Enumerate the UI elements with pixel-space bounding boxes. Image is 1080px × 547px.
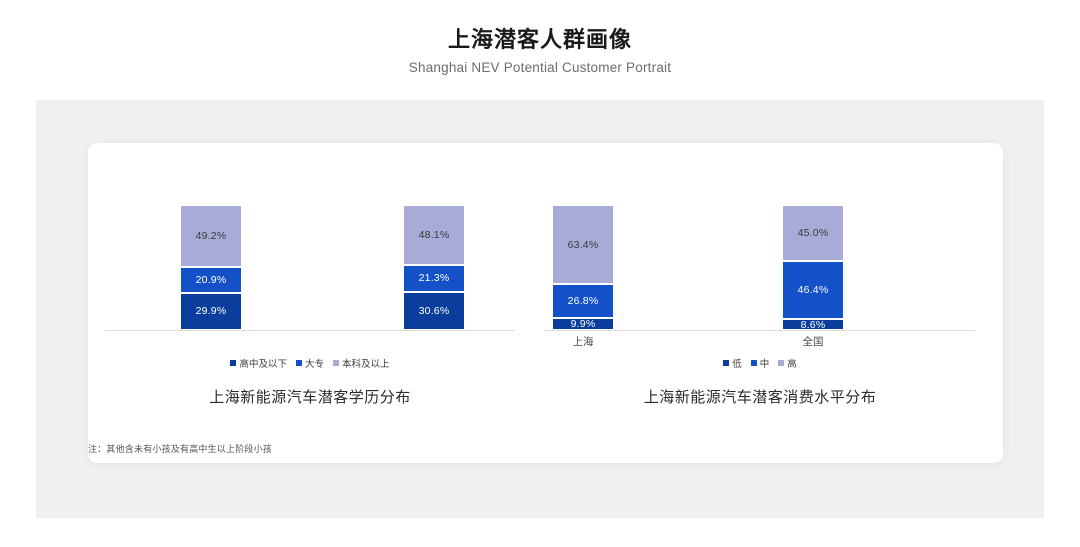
legend-swatch-icon: [778, 360, 784, 366]
bar-segment-high[interactable]: 63.4%: [553, 205, 613, 284]
stacked-bar-consumption-national[interactable]: 45.0% 46.4% 8.6%: [783, 205, 843, 330]
x-axis-line-education: [105, 330, 515, 331]
legend-item-highschool-and-below[interactable]: 高中及以下: [230, 356, 287, 370]
chart-caption-consumption: 上海新能源汽车潜客消费水平分布: [545, 386, 975, 407]
stacked-bar-education-shanghai[interactable]: 49.2% 20.9% 29.9%: [181, 205, 241, 330]
legend-label: 本科及以上: [342, 356, 390, 370]
legend-label: 中: [760, 356, 770, 370]
bar-segment-high[interactable]: 45.0%: [783, 205, 843, 261]
legend-label: 低: [732, 356, 742, 370]
legend-swatch-icon: [230, 360, 236, 366]
bar-segment-highschool-and-below[interactable]: 29.9%: [181, 293, 241, 330]
stacked-bar-education-national[interactable]: 48.1% 21.3% 30.6%: [404, 205, 464, 330]
plot-area-consumption: 63.4% 26.8% 9.9% 45.0% 46.4% 8.6%: [545, 205, 975, 330]
legend-item-high[interactable]: 高: [778, 356, 797, 370]
plot-area-education: 49.2% 20.9% 29.9% 48.1% 21.3% 30.6%: [105, 205, 515, 330]
legend-label: 高中及以下: [239, 356, 287, 370]
bar-segment-low[interactable]: 8.6%: [783, 319, 843, 330]
legend-swatch-icon: [751, 360, 757, 366]
legend-label: 大专: [305, 356, 324, 370]
page-header: 上海潜客人群画像 Shanghai NEV Potential Customer…: [0, 0, 1080, 75]
legend-item-low[interactable]: 低: [723, 356, 742, 370]
x-axis-category-labels: 上海 全国: [545, 334, 975, 352]
chart-consumption-level-distribution: 63.4% 26.8% 9.9% 45.0% 46.4% 8.6% 上海 全国: [545, 143, 975, 463]
legend-swatch-icon: [296, 360, 302, 366]
legend-item-medium[interactable]: 中: [751, 356, 770, 370]
legend-swatch-icon: [333, 360, 339, 366]
bar-segment-medium[interactable]: 46.4%: [783, 261, 843, 319]
legend-item-junior-college[interactable]: 大专: [296, 356, 324, 370]
bar-segment-bachelor-and-above[interactable]: 48.1%: [404, 205, 464, 265]
x-axis-line-consumption: [545, 330, 975, 331]
bar-segment-low[interactable]: 9.9%: [553, 318, 613, 330]
footnote: 注：其他含未有小孩及有高中生以上阶段小孩: [88, 442, 272, 455]
charts-card: 49.2% 20.9% 29.9% 48.1% 21.3% 30.6% 高中及以…: [88, 143, 1003, 463]
legend-consumption: 低 中 高: [545, 356, 975, 370]
chart-education-distribution: 49.2% 20.9% 29.9% 48.1% 21.3% 30.6% 高中及以…: [105, 143, 515, 463]
stacked-bar-consumption-shanghai[interactable]: 63.4% 26.8% 9.9%: [553, 205, 613, 330]
legend-item-bachelor-and-above[interactable]: 本科及以上: [333, 356, 390, 370]
charts-row: 49.2% 20.9% 29.9% 48.1% 21.3% 30.6% 高中及以…: [88, 143, 1003, 463]
bar-segment-medium[interactable]: 26.8%: [553, 284, 613, 317]
page-subtitle: Shanghai NEV Potential Customer Portrait: [0, 60, 1080, 75]
page-title: 上海潜客人群画像: [0, 26, 1080, 54]
x-axis-label-national: 全国: [783, 334, 843, 349]
legend-label: 高: [787, 356, 797, 370]
legend-education: 高中及以下 大专 本科及以上: [105, 356, 515, 370]
legend-swatch-icon: [723, 360, 729, 366]
bar-segment-highschool-and-below[interactable]: 30.6%: [404, 292, 464, 330]
x-axis-label-shanghai: 上海: [553, 334, 613, 349]
chart-caption-education: 上海新能源汽车潜客学历分布: [105, 386, 515, 407]
bar-segment-junior-college[interactable]: 21.3%: [404, 265, 464, 292]
bar-segment-bachelor-and-above[interactable]: 49.2%: [181, 205, 241, 267]
bar-segment-junior-college[interactable]: 20.9%: [181, 267, 241, 293]
